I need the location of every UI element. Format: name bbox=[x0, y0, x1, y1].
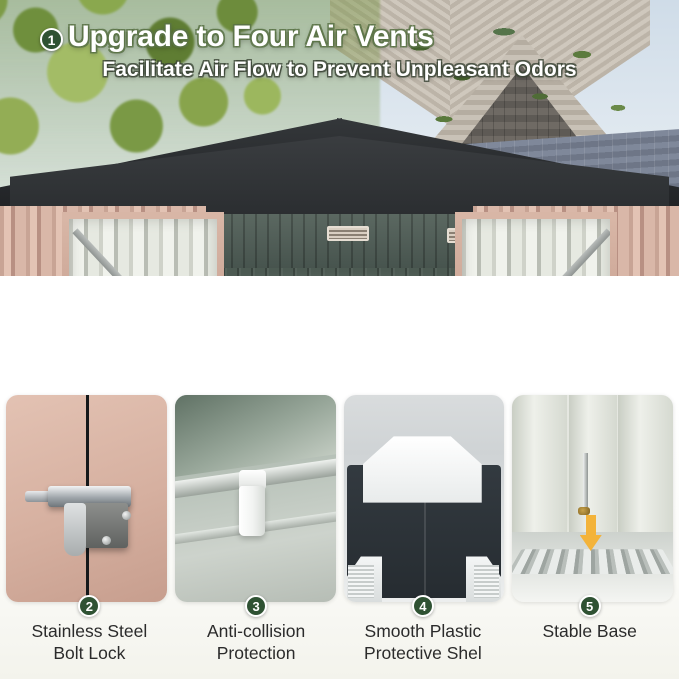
feature-label-3: 3 Anti-collision Protection bbox=[173, 595, 340, 679]
bolt-latch-loop bbox=[64, 503, 87, 557]
feature-card-images bbox=[0, 395, 679, 610]
air-vent-interior-left-icon bbox=[327, 226, 369, 241]
down-arrow-icon bbox=[580, 515, 602, 553]
white-curve-divider bbox=[0, 300, 679, 400]
louver-vent-left-icon bbox=[348, 565, 374, 598]
feature-image-anti-collision bbox=[175, 395, 336, 602]
feature-image-bolt-lock bbox=[6, 395, 167, 602]
feature-labels: 2 Stainless Steel Bolt Lock 3 Anti-colli… bbox=[0, 595, 679, 679]
step-badge-2: 2 bbox=[78, 595, 100, 617]
louver-vent-right-icon bbox=[474, 565, 500, 598]
feature-label-text: Stable Base bbox=[506, 621, 673, 643]
feature-label-line1: Smooth Plastic bbox=[344, 621, 503, 643]
anchor-nut bbox=[578, 507, 590, 515]
feature-label-line2: Protection bbox=[177, 643, 336, 665]
feature-label-4: 4 Smooth Plastic Protective Shel bbox=[340, 595, 507, 679]
plastic-protective-shell bbox=[363, 436, 482, 502]
step-badge-1: 1 bbox=[40, 28, 63, 51]
feature-label-line2: Bolt Lock bbox=[10, 643, 169, 665]
feature-label-text: Stainless Steel Bolt Lock bbox=[6, 621, 173, 665]
feature-label-text: Anti-collision Protection bbox=[173, 621, 340, 665]
feature-image-stable-base bbox=[512, 395, 673, 602]
feature-label-line1: Anti-collision bbox=[177, 621, 336, 643]
step-badge-4: 4 bbox=[412, 595, 434, 617]
feature-label-line1: Stable Base bbox=[510, 621, 669, 643]
feature-label-2: 2 Stainless Steel Bolt Lock bbox=[6, 595, 173, 679]
feature-label-line2: Protective Shel bbox=[344, 643, 503, 665]
bolt-screw bbox=[122, 511, 131, 520]
page-subtitle: Facilitate Air Flow to Prevent Unpleasan… bbox=[0, 58, 679, 82]
product-feature-infographic: 1 Upgrade to Four Air Vents Facilitate A… bbox=[0, 0, 679, 679]
feature-label-line1: Stainless Steel bbox=[10, 621, 169, 643]
plastic-bumper bbox=[239, 486, 265, 536]
anchor-bolt bbox=[583, 453, 588, 507]
base-wall-panel bbox=[618, 395, 673, 536]
feature-label-5: 5 Stable Base bbox=[506, 595, 673, 679]
feature-label-text: Smooth Plastic Protective Shel bbox=[340, 621, 507, 665]
page-title: Upgrade to Four Air Vents bbox=[68, 20, 434, 54]
feature-strip: 2 Stainless Steel Bolt Lock 3 Anti-colli… bbox=[0, 395, 679, 679]
base-wall-panel bbox=[512, 395, 567, 536]
step-badge-5: 5 bbox=[579, 595, 601, 617]
step-badge-3: 3 bbox=[245, 595, 267, 617]
feature-image-plastic-shell bbox=[344, 395, 505, 602]
